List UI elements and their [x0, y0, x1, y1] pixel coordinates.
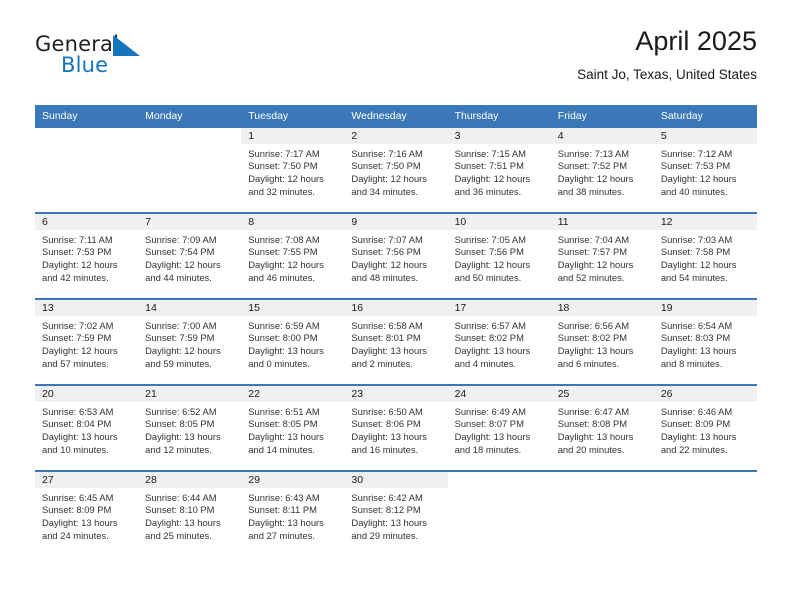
calendar-day-cell: [448, 471, 551, 556]
sunset-text: Sunset: 8:09 PM: [42, 504, 132, 517]
weekday-header-wednesday: Wednesday: [344, 105, 447, 128]
calendar-day-cell: [654, 471, 757, 556]
calendar-day-content: 30Sunrise: 6:42 AMSunset: 8:12 PMDayligh…: [344, 472, 447, 556]
triangle-icon: [113, 35, 140, 56]
day-number: 23: [344, 386, 447, 402]
calendar-day-cell[interactable]: 19Sunrise: 6:54 AMSunset: 8:03 PMDayligh…: [654, 299, 757, 385]
sunset-text: Sunset: 7:55 PM: [248, 246, 338, 259]
daylight-text-line2: and 0 minutes.: [248, 358, 338, 371]
sunrise-text: Sunrise: 7:16 AM: [351, 148, 441, 161]
calendar-day-cell[interactable]: 16Sunrise: 6:58 AMSunset: 8:01 PMDayligh…: [344, 299, 447, 385]
day-details: Sunrise: 7:03 AMSunset: 7:58 PMDaylight:…: [654, 230, 757, 285]
sunset-text: Sunset: 7:59 PM: [145, 332, 235, 345]
daylight-text-line2: and 44 minutes.: [145, 272, 235, 285]
day-number: [448, 472, 551, 488]
calendar-day-content: 9Sunrise: 7:07 AMSunset: 7:56 PMDaylight…: [344, 214, 447, 298]
calendar-day-cell: [35, 128, 138, 213]
daylight-text-line1: Daylight: 12 hours: [248, 259, 338, 272]
calendar-day-cell[interactable]: 7Sunrise: 7:09 AMSunset: 7:54 PMDaylight…: [138, 213, 241, 299]
sunset-text: Sunset: 8:05 PM: [145, 418, 235, 431]
calendar-day-content: 8Sunrise: 7:08 AMSunset: 7:55 PMDaylight…: [241, 214, 344, 298]
daylight-text-line2: and 57 minutes.: [42, 358, 132, 371]
sunset-text: Sunset: 8:12 PM: [351, 504, 441, 517]
calendar-day-cell[interactable]: 13Sunrise: 7:02 AMSunset: 7:59 PMDayligh…: [35, 299, 138, 385]
day-number: 11: [551, 214, 654, 230]
calendar-week-row: 13Sunrise: 7:02 AMSunset: 7:59 PMDayligh…: [35, 299, 757, 385]
day-details: Sunrise: 6:47 AMSunset: 8:08 PMDaylight:…: [551, 402, 654, 457]
sunrise-text: Sunrise: 7:07 AM: [351, 234, 441, 247]
daylight-text-line2: and 12 minutes.: [145, 444, 235, 457]
day-number: 5: [654, 128, 757, 144]
day-details: Sunrise: 6:42 AMSunset: 8:12 PMDaylight:…: [344, 488, 447, 543]
day-details: Sunrise: 6:44 AMSunset: 8:10 PMDaylight:…: [138, 488, 241, 543]
sunset-text: Sunset: 7:56 PM: [351, 246, 441, 259]
daylight-text-line1: Daylight: 13 hours: [42, 431, 132, 444]
day-number: 28: [138, 472, 241, 488]
day-details: Sunrise: 7:05 AMSunset: 7:56 PMDaylight:…: [448, 230, 551, 285]
calendar-day-cell: [138, 128, 241, 213]
daylight-text-line1: Daylight: 12 hours: [42, 259, 132, 272]
sunrise-text: Sunrise: 6:44 AM: [145, 492, 235, 505]
day-details: Sunrise: 6:58 AMSunset: 8:01 PMDaylight:…: [344, 316, 447, 371]
calendar-day-cell[interactable]: 22Sunrise: 6:51 AMSunset: 8:05 PMDayligh…: [241, 385, 344, 471]
calendar-day-content: 25Sunrise: 6:47 AMSunset: 8:08 PMDayligh…: [551, 386, 654, 470]
logo-text-blue: Blue: [61, 55, 108, 76]
sunset-text: Sunset: 8:00 PM: [248, 332, 338, 345]
day-details: Sunrise: 7:12 AMSunset: 7:53 PMDaylight:…: [654, 144, 757, 199]
daylight-text-line2: and 38 minutes.: [558, 186, 648, 199]
sunrise-text: Sunrise: 7:00 AM: [145, 320, 235, 333]
day-number: 9: [344, 214, 447, 230]
sunrise-text: Sunrise: 6:54 AM: [661, 320, 751, 333]
weekday-header-monday: Monday: [138, 105, 241, 128]
calendar-week-row: 6Sunrise: 7:11 AMSunset: 7:53 PMDaylight…: [35, 213, 757, 299]
day-details: Sunrise: 7:16 AMSunset: 7:50 PMDaylight:…: [344, 144, 447, 199]
daylight-text-line2: and 6 minutes.: [558, 358, 648, 371]
daylight-text-line2: and 18 minutes.: [455, 444, 545, 457]
daylight-text-line2: and 25 minutes.: [145, 530, 235, 543]
calendar-day-content: 2Sunrise: 7:16 AMSunset: 7:50 PMDaylight…: [344, 128, 447, 212]
calendar-day-content: 12Sunrise: 7:03 AMSunset: 7:58 PMDayligh…: [654, 214, 757, 298]
sunrise-text: Sunrise: 7:12 AM: [661, 148, 751, 161]
calendar-day-cell[interactable]: 4Sunrise: 7:13 AMSunset: 7:52 PMDaylight…: [551, 128, 654, 213]
calendar-table: Sunday Monday Tuesday Wednesday Thursday…: [35, 105, 757, 556]
sunrise-text: Sunrise: 7:09 AM: [145, 234, 235, 247]
calendar-day-content: 4Sunrise: 7:13 AMSunset: 7:52 PMDaylight…: [551, 128, 654, 212]
calendar-day-content: 26Sunrise: 6:46 AMSunset: 8:09 PMDayligh…: [654, 386, 757, 470]
calendar-day-content: 17Sunrise: 6:57 AMSunset: 8:02 PMDayligh…: [448, 300, 551, 384]
sunset-text: Sunset: 7:58 PM: [661, 246, 751, 259]
sunrise-text: Sunrise: 6:59 AM: [248, 320, 338, 333]
day-details: Sunrise: 7:04 AMSunset: 7:57 PMDaylight:…: [551, 230, 654, 285]
daylight-text-line1: Daylight: 13 hours: [558, 431, 648, 444]
calendar-day-content: 15Sunrise: 6:59 AMSunset: 8:00 PMDayligh…: [241, 300, 344, 384]
sunset-text: Sunset: 8:09 PM: [661, 418, 751, 431]
daylight-text-line2: and 48 minutes.: [351, 272, 441, 285]
day-number: [35, 128, 138, 144]
calendar-day-content: 29Sunrise: 6:43 AMSunset: 8:11 PMDayligh…: [241, 472, 344, 556]
calendar-day-cell[interactable]: 3Sunrise: 7:15 AMSunset: 7:51 PMDaylight…: [448, 128, 551, 213]
calendar-day-empty: [654, 472, 757, 556]
calendar-day-cell[interactable]: 18Sunrise: 6:56 AMSunset: 8:02 PMDayligh…: [551, 299, 654, 385]
daylight-text-line2: and 29 minutes.: [351, 530, 441, 543]
day-details: Sunrise: 6:52 AMSunset: 8:05 PMDaylight:…: [138, 402, 241, 457]
daylight-text-line1: Daylight: 12 hours: [145, 259, 235, 272]
calendar-day-content: 23Sunrise: 6:50 AMSunset: 8:06 PMDayligh…: [344, 386, 447, 470]
day-number: 26: [654, 386, 757, 402]
day-number: 21: [138, 386, 241, 402]
daylight-text-line1: Daylight: 12 hours: [42, 345, 132, 358]
day-details: Sunrise: 6:57 AMSunset: 8:02 PMDaylight:…: [448, 316, 551, 371]
calendar-week-row: 1Sunrise: 7:17 AMSunset: 7:50 PMDaylight…: [35, 128, 757, 213]
calendar-day-content: 10Sunrise: 7:05 AMSunset: 7:56 PMDayligh…: [448, 214, 551, 298]
weekday-header-tuesday: Tuesday: [241, 105, 344, 128]
sunrise-text: Sunrise: 6:42 AM: [351, 492, 441, 505]
day-number: 18: [551, 300, 654, 316]
title-block: April 2025 Saint Jo, Texas, United State…: [577, 26, 757, 83]
day-number: 14: [138, 300, 241, 316]
day-details: Sunrise: 7:09 AMSunset: 7:54 PMDaylight:…: [138, 230, 241, 285]
general-blue-logo[interactable]: General Blue: [35, 34, 165, 86]
daylight-text-line1: Daylight: 12 hours: [661, 173, 751, 186]
sunset-text: Sunset: 7:53 PM: [42, 246, 132, 259]
logo-text-general: General: [35, 34, 119, 55]
calendar-day-content: 3Sunrise: 7:15 AMSunset: 7:51 PMDaylight…: [448, 128, 551, 212]
day-number: 24: [448, 386, 551, 402]
daylight-text-line2: and 52 minutes.: [558, 272, 648, 285]
daylight-text-line2: and 22 minutes.: [661, 444, 751, 457]
sunset-text: Sunset: 7:50 PM: [351, 160, 441, 173]
calendar-day-content: 20Sunrise: 6:53 AMSunset: 8:04 PMDayligh…: [35, 386, 138, 470]
sunset-text: Sunset: 7:53 PM: [661, 160, 751, 173]
page-header: General Blue April 2025 Saint Jo, Texas,…: [35, 26, 757, 98]
day-number: 30: [344, 472, 447, 488]
sunrise-text: Sunrise: 7:11 AM: [42, 234, 132, 247]
daylight-text-line1: Daylight: 12 hours: [145, 345, 235, 358]
calendar-day-cell[interactable]: 25Sunrise: 6:47 AMSunset: 8:08 PMDayligh…: [551, 385, 654, 471]
day-details: Sunrise: 6:49 AMSunset: 8:07 PMDaylight:…: [448, 402, 551, 457]
calendar-day-cell[interactable]: 23Sunrise: 6:50 AMSunset: 8:06 PMDayligh…: [344, 385, 447, 471]
day-number: [138, 128, 241, 144]
daylight-text-line2: and 59 minutes.: [145, 358, 235, 371]
day-number: 1: [241, 128, 344, 144]
day-details: Sunrise: 6:51 AMSunset: 8:05 PMDaylight:…: [241, 402, 344, 457]
day-number: 22: [241, 386, 344, 402]
daylight-text-line1: Daylight: 13 hours: [351, 431, 441, 444]
page-title: April 2025: [577, 26, 757, 57]
day-details: Sunrise: 6:59 AMSunset: 8:00 PMDaylight:…: [241, 316, 344, 371]
daylight-text-line2: and 10 minutes.: [42, 444, 132, 457]
day-details: Sunrise: 6:46 AMSunset: 8:09 PMDaylight:…: [654, 402, 757, 457]
day-details: Sunrise: 6:54 AMSunset: 8:03 PMDaylight:…: [654, 316, 757, 371]
calendar-day-empty: [448, 472, 551, 556]
calendar-body: 1Sunrise: 7:17 AMSunset: 7:50 PMDaylight…: [35, 128, 757, 556]
calendar-day-cell[interactable]: 27Sunrise: 6:45 AMSunset: 8:09 PMDayligh…: [35, 471, 138, 556]
calendar-day-content: 22Sunrise: 6:51 AMSunset: 8:05 PMDayligh…: [241, 386, 344, 470]
weekday-header-friday: Friday: [551, 105, 654, 128]
calendar-day-content: 11Sunrise: 7:04 AMSunset: 7:57 PMDayligh…: [551, 214, 654, 298]
day-number: 16: [344, 300, 447, 316]
day-number: 10: [448, 214, 551, 230]
weekday-header-thursday: Thursday: [448, 105, 551, 128]
day-number: [551, 472, 654, 488]
sunset-text: Sunset: 8:05 PM: [248, 418, 338, 431]
calendar-day-cell[interactable]: 1Sunrise: 7:17 AMSunset: 7:50 PMDaylight…: [241, 128, 344, 213]
calendar-day-empty: [138, 128, 241, 212]
daylight-text-line1: Daylight: 13 hours: [42, 517, 132, 530]
day-number: 8: [241, 214, 344, 230]
daylight-text-line2: and 20 minutes.: [558, 444, 648, 457]
daylight-text-line1: Daylight: 13 hours: [455, 431, 545, 444]
day-number: 4: [551, 128, 654, 144]
daylight-text-line2: and 46 minutes.: [248, 272, 338, 285]
sunset-text: Sunset: 8:02 PM: [558, 332, 648, 345]
calendar-day-content: 21Sunrise: 6:52 AMSunset: 8:05 PMDayligh…: [138, 386, 241, 470]
daylight-text-line1: Daylight: 13 hours: [661, 431, 751, 444]
sunset-text: Sunset: 8:07 PM: [455, 418, 545, 431]
daylight-text-line1: Daylight: 13 hours: [351, 345, 441, 358]
daylight-text-line1: Daylight: 13 hours: [248, 431, 338, 444]
day-details: Sunrise: 7:07 AMSunset: 7:56 PMDaylight:…: [344, 230, 447, 285]
sunset-text: Sunset: 7:51 PM: [455, 160, 545, 173]
daylight-text-line1: Daylight: 12 hours: [558, 173, 648, 186]
calendar-day-content: 1Sunrise: 7:17 AMSunset: 7:50 PMDaylight…: [241, 128, 344, 212]
daylight-text-line2: and 54 minutes.: [661, 272, 751, 285]
day-details: Sunrise: 6:50 AMSunset: 8:06 PMDaylight:…: [344, 402, 447, 457]
daylight-text-line1: Daylight: 12 hours: [558, 259, 648, 272]
daylight-text-line2: and 8 minutes.: [661, 358, 751, 371]
sunset-text: Sunset: 8:08 PM: [558, 418, 648, 431]
day-number: 17: [448, 300, 551, 316]
day-details: Sunrise: 7:17 AMSunset: 7:50 PMDaylight:…: [241, 144, 344, 199]
calendar-day-cell[interactable]: 15Sunrise: 6:59 AMSunset: 8:00 PMDayligh…: [241, 299, 344, 385]
calendar-day-content: 14Sunrise: 7:00 AMSunset: 7:59 PMDayligh…: [138, 300, 241, 384]
daylight-text-line1: Daylight: 13 hours: [661, 345, 751, 358]
sunset-text: Sunset: 8:11 PM: [248, 504, 338, 517]
sunset-text: Sunset: 8:03 PM: [661, 332, 751, 345]
calendar-day-content: 13Sunrise: 7:02 AMSunset: 7:59 PMDayligh…: [35, 300, 138, 384]
calendar-page: General Blue April 2025 Saint Jo, Texas,…: [0, 0, 792, 612]
daylight-text-line1: Daylight: 12 hours: [455, 173, 545, 186]
day-number: 3: [448, 128, 551, 144]
daylight-text-line2: and 34 minutes.: [351, 186, 441, 199]
day-number: 27: [35, 472, 138, 488]
calendar-header-row: Sunday Monday Tuesday Wednesday Thursday…: [35, 105, 757, 128]
calendar-week-row: 27Sunrise: 6:45 AMSunset: 8:09 PMDayligh…: [35, 471, 757, 556]
calendar-day-content: 16Sunrise: 6:58 AMSunset: 8:01 PMDayligh…: [344, 300, 447, 384]
daylight-text-line1: Daylight: 12 hours: [248, 173, 338, 186]
sunrise-text: Sunrise: 7:04 AM: [558, 234, 648, 247]
calendar-day-content: 27Sunrise: 6:45 AMSunset: 8:09 PMDayligh…: [35, 472, 138, 556]
daylight-text-line2: and 32 minutes.: [248, 186, 338, 199]
calendar-day-cell[interactable]: 2Sunrise: 7:16 AMSunset: 7:50 PMDaylight…: [344, 128, 447, 213]
daylight-text-line1: Daylight: 12 hours: [455, 259, 545, 272]
calendar-day-content: 7Sunrise: 7:09 AMSunset: 7:54 PMDaylight…: [138, 214, 241, 298]
sunset-text: Sunset: 7:59 PM: [42, 332, 132, 345]
day-details: Sunrise: 6:45 AMSunset: 8:09 PMDaylight:…: [35, 488, 138, 543]
sunset-text: Sunset: 8:01 PM: [351, 332, 441, 345]
daylight-text-line1: Daylight: 12 hours: [351, 173, 441, 186]
calendar-day-cell[interactable]: 9Sunrise: 7:07 AMSunset: 7:56 PMDaylight…: [344, 213, 447, 299]
sunrise-text: Sunrise: 6:57 AM: [455, 320, 545, 333]
calendar-day-empty: [35, 128, 138, 212]
daylight-text-line2: and 16 minutes.: [351, 444, 441, 457]
sunrise-text: Sunrise: 6:50 AM: [351, 406, 441, 419]
daylight-text-line1: Daylight: 13 hours: [145, 517, 235, 530]
daylight-text-line1: Daylight: 13 hours: [248, 517, 338, 530]
day-number: [654, 472, 757, 488]
day-details: Sunrise: 7:13 AMSunset: 7:52 PMDaylight:…: [551, 144, 654, 199]
daylight-text-line1: Daylight: 13 hours: [248, 345, 338, 358]
sunrise-text: Sunrise: 6:51 AM: [248, 406, 338, 419]
calendar-day-content: 18Sunrise: 6:56 AMSunset: 8:02 PMDayligh…: [551, 300, 654, 384]
calendar-day-cell[interactable]: 17Sunrise: 6:57 AMSunset: 8:02 PMDayligh…: [448, 299, 551, 385]
daylight-text-line1: Daylight: 12 hours: [351, 259, 441, 272]
sunset-text: Sunset: 7:54 PM: [145, 246, 235, 259]
calendar-day-cell[interactable]: 8Sunrise: 7:08 AMSunset: 7:55 PMDaylight…: [241, 213, 344, 299]
daylight-text-line2: and 24 minutes.: [42, 530, 132, 543]
daylight-text-line2: and 2 minutes.: [351, 358, 441, 371]
calendar-day-cell[interactable]: 12Sunrise: 7:03 AMSunset: 7:58 PMDayligh…: [654, 213, 757, 299]
day-details: Sunrise: 7:02 AMSunset: 7:59 PMDaylight:…: [35, 316, 138, 371]
sunset-text: Sunset: 8:06 PM: [351, 418, 441, 431]
calendar-day-cell[interactable]: 26Sunrise: 6:46 AMSunset: 8:09 PMDayligh…: [654, 385, 757, 471]
day-number: 29: [241, 472, 344, 488]
day-number: 7: [138, 214, 241, 230]
daylight-text-line1: Daylight: 12 hours: [661, 259, 751, 272]
calendar-day-empty: [551, 472, 654, 556]
day-details: Sunrise: 7:11 AMSunset: 7:53 PMDaylight:…: [35, 230, 138, 285]
daylight-text-line2: and 36 minutes.: [455, 186, 545, 199]
calendar-day-cell[interactable]: 21Sunrise: 6:52 AMSunset: 8:05 PMDayligh…: [138, 385, 241, 471]
day-details: Sunrise: 7:08 AMSunset: 7:55 PMDaylight:…: [241, 230, 344, 285]
sunset-text: Sunset: 8:04 PM: [42, 418, 132, 431]
daylight-text-line2: and 27 minutes.: [248, 530, 338, 543]
calendar-day-content: 24Sunrise: 6:49 AMSunset: 8:07 PMDayligh…: [448, 386, 551, 470]
sunrise-text: Sunrise: 6:56 AM: [558, 320, 648, 333]
calendar-week-row: 20Sunrise: 6:53 AMSunset: 8:04 PMDayligh…: [35, 385, 757, 471]
sunrise-text: Sunrise: 7:03 AM: [661, 234, 751, 247]
day-details: Sunrise: 6:43 AMSunset: 8:11 PMDaylight:…: [241, 488, 344, 543]
calendar-day-content: 19Sunrise: 6:54 AMSunset: 8:03 PMDayligh…: [654, 300, 757, 384]
daylight-text-line2: and 42 minutes.: [42, 272, 132, 285]
sunrise-text: Sunrise: 6:43 AM: [248, 492, 338, 505]
calendar-day-cell[interactable]: 28Sunrise: 6:44 AMSunset: 8:10 PMDayligh…: [138, 471, 241, 556]
daylight-text-line1: Daylight: 13 hours: [145, 431, 235, 444]
sunrise-text: Sunrise: 7:17 AM: [248, 148, 338, 161]
day-number: 19: [654, 300, 757, 316]
day-details: Sunrise: 7:15 AMSunset: 7:51 PMDaylight:…: [448, 144, 551, 199]
calendar-day-cell[interactable]: 29Sunrise: 6:43 AMSunset: 8:11 PMDayligh…: [241, 471, 344, 556]
day-details: Sunrise: 6:53 AMSunset: 8:04 PMDaylight:…: [35, 402, 138, 457]
day-number: 25: [551, 386, 654, 402]
calendar-day-cell[interactable]: 10Sunrise: 7:05 AMSunset: 7:56 PMDayligh…: [448, 213, 551, 299]
sunset-text: Sunset: 7:50 PM: [248, 160, 338, 173]
sunrise-text: Sunrise: 6:53 AM: [42, 406, 132, 419]
sunrise-text: Sunrise: 6:49 AM: [455, 406, 545, 419]
weekday-header-sunday: Sunday: [35, 105, 138, 128]
sunrise-text: Sunrise: 7:15 AM: [455, 148, 545, 161]
sunrise-text: Sunrise: 6:47 AM: [558, 406, 648, 419]
calendar-day-cell[interactable]: 24Sunrise: 6:49 AMSunset: 8:07 PMDayligh…: [448, 385, 551, 471]
calendar-day-cell[interactable]: 6Sunrise: 7:11 AMSunset: 7:53 PMDaylight…: [35, 213, 138, 299]
calendar-day-content: 6Sunrise: 7:11 AMSunset: 7:53 PMDaylight…: [35, 214, 138, 298]
sunset-text: Sunset: 8:02 PM: [455, 332, 545, 345]
daylight-text-line1: Daylight: 13 hours: [558, 345, 648, 358]
sunset-text: Sunset: 8:10 PM: [145, 504, 235, 517]
calendar-day-cell: [551, 471, 654, 556]
day-number: 6: [35, 214, 138, 230]
day-number: 13: [35, 300, 138, 316]
sunrise-text: Sunrise: 6:45 AM: [42, 492, 132, 505]
weekday-header-saturday: Saturday: [654, 105, 757, 128]
day-number: 2: [344, 128, 447, 144]
daylight-text-line1: Daylight: 13 hours: [351, 517, 441, 530]
calendar-day-content: 28Sunrise: 6:44 AMSunset: 8:10 PMDayligh…: [138, 472, 241, 556]
calendar-day-cell[interactable]: 14Sunrise: 7:00 AMSunset: 7:59 PMDayligh…: [138, 299, 241, 385]
daylight-text-line2: and 50 minutes.: [455, 272, 545, 285]
page-subtitle: Saint Jo, Texas, United States: [577, 67, 757, 83]
day-details: Sunrise: 6:56 AMSunset: 8:02 PMDaylight:…: [551, 316, 654, 371]
daylight-text-line2: and 40 minutes.: [661, 186, 751, 199]
day-details: Sunrise: 7:00 AMSunset: 7:59 PMDaylight:…: [138, 316, 241, 371]
calendar-day-content: 5Sunrise: 7:12 AMSunset: 7:53 PMDaylight…: [654, 128, 757, 212]
sunrise-text: Sunrise: 7:05 AM: [455, 234, 545, 247]
sunrise-text: Sunrise: 7:13 AM: [558, 148, 648, 161]
sunset-text: Sunset: 7:56 PM: [455, 246, 545, 259]
day-number: 15: [241, 300, 344, 316]
daylight-text-line1: Daylight: 13 hours: [455, 345, 545, 358]
sunset-text: Sunset: 7:57 PM: [558, 246, 648, 259]
calendar-day-cell[interactable]: 30Sunrise: 6:42 AMSunset: 8:12 PMDayligh…: [344, 471, 447, 556]
day-number: 20: [35, 386, 138, 402]
daylight-text-line2: and 14 minutes.: [248, 444, 338, 457]
sunrise-text: Sunrise: 7:02 AM: [42, 320, 132, 333]
day-number: 12: [654, 214, 757, 230]
calendar-day-cell[interactable]: 11Sunrise: 7:04 AMSunset: 7:57 PMDayligh…: [551, 213, 654, 299]
sunrise-text: Sunrise: 6:58 AM: [351, 320, 441, 333]
calendar-day-cell[interactable]: 20Sunrise: 6:53 AMSunset: 8:04 PMDayligh…: [35, 385, 138, 471]
sunrise-text: Sunrise: 7:08 AM: [248, 234, 338, 247]
calendar-day-cell[interactable]: 5Sunrise: 7:12 AMSunset: 7:53 PMDaylight…: [654, 128, 757, 213]
sunrise-text: Sunrise: 6:46 AM: [661, 406, 751, 419]
sunset-text: Sunset: 7:52 PM: [558, 160, 648, 173]
daylight-text-line2: and 4 minutes.: [455, 358, 545, 371]
sunrise-text: Sunrise: 6:52 AM: [145, 406, 235, 419]
